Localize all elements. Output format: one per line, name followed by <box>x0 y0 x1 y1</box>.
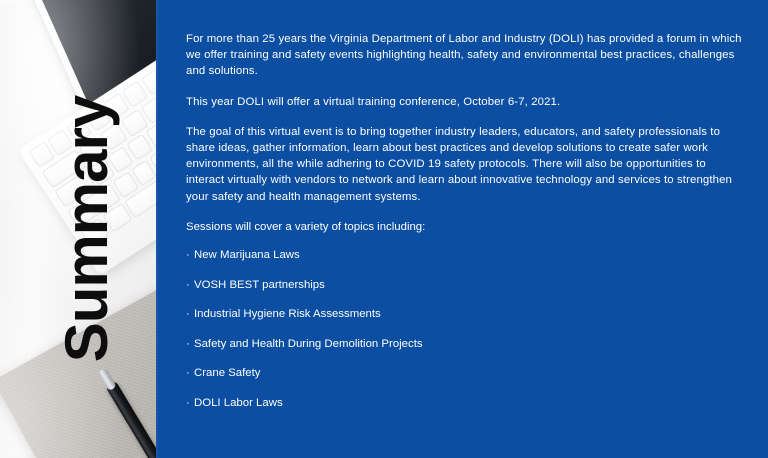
bullet-icon: · <box>186 336 194 352</box>
slide: Summary For more than 25 years the Virgi… <box>0 0 768 458</box>
list-item-label: VOSH BEST partnerships <box>194 277 746 293</box>
list-item-label: Safety and Health During Demolition Proj… <box>194 336 746 352</box>
content-panel: For more than 25 years the Virginia Depa… <box>156 0 768 458</box>
list-item-label: New Marijuana Laws <box>194 247 746 263</box>
bullet-icon: · <box>186 277 194 293</box>
paragraph-intro-1: For more than 25 years the Virginia Depa… <box>186 31 746 80</box>
list-item: · DOLI Labor Laws <box>186 395 746 411</box>
bullet-icon: · <box>186 365 194 381</box>
panel-left-edge <box>156 0 158 458</box>
bullet-icon: · <box>186 395 194 411</box>
list-item: · Industrial Hygiene Risk Assessments <box>186 306 746 322</box>
photo-panel <box>0 0 156 458</box>
list-item-label: DOLI Labor Laws <box>194 395 746 411</box>
bullet-icon: · <box>186 247 194 263</box>
list-item-label: Industrial Hygiene Risk Assessments <box>194 306 746 322</box>
list-item: · Crane Safety <box>186 365 746 381</box>
bullet-icon: · <box>186 306 194 322</box>
paragraph-event-goal: The goal of this virtual event is to bri… <box>186 124 746 205</box>
list-item: · New Marijuana Laws <box>186 247 746 263</box>
content-body: For more than 25 years the Virginia Depa… <box>186 31 746 424</box>
list-item: · Safety and Health During Demolition Pr… <box>186 336 746 352</box>
paragraph-conference-date: This year DOLI will offer a virtual trai… <box>186 94 746 110</box>
topics-intro: Sessions will cover a variety of topics … <box>186 219 746 235</box>
list-item: · VOSH BEST partnerships <box>186 277 746 293</box>
list-item-label: Crane Safety <box>194 365 746 381</box>
topics-list: · New Marijuana Laws · VOSH BEST partner… <box>186 247 746 411</box>
